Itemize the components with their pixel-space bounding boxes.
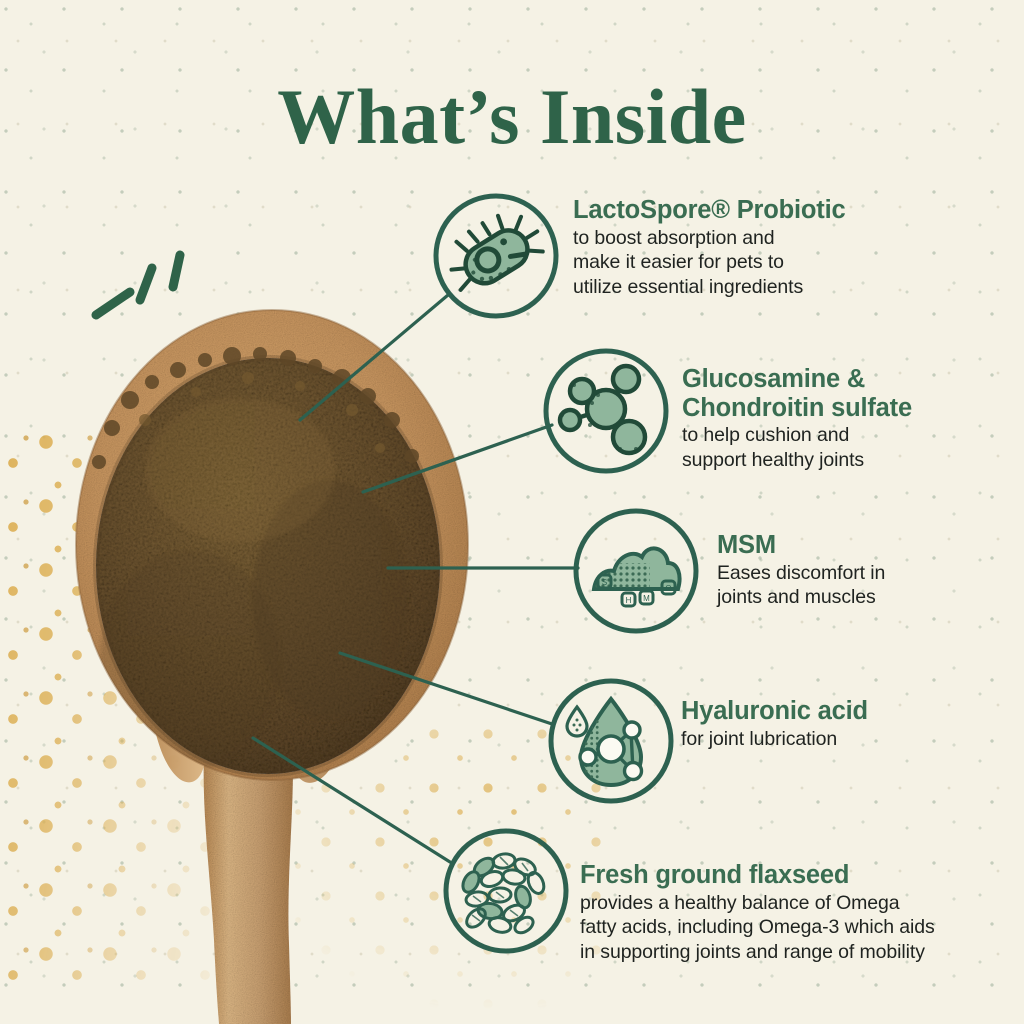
text-line: provides a healthy balance of Omega <box>580 891 980 916</box>
callout-flaxseed: Fresh ground flaxseed provides a healthy… <box>580 861 980 964</box>
text-line: to help cushion and <box>682 423 982 448</box>
svg-text:M: M <box>643 594 650 603</box>
text-line: in supporting joints and range of mobili… <box>580 940 980 965</box>
callout-flaxseed-title: Fresh ground flaxseed <box>580 861 980 890</box>
page-title: What’s Inside <box>0 72 1024 162</box>
flaxseed-cluster-icon <box>440 825 572 957</box>
molecule-icon <box>540 345 672 477</box>
connector-flaxseed <box>253 738 450 862</box>
callout-hyaluronic-acid-body: for joint lubrication <box>681 727 981 752</box>
text-line: Chondroitin sulfate <box>682 394 982 423</box>
callout-hyaluronic-acid: Hyaluronic acid for joint lubrication <box>681 697 981 751</box>
callout-lactospore-title: LactoSpore® Probiotic <box>573 196 903 225</box>
text-line: make it easier for pets to <box>573 250 903 275</box>
text-line: Glucosamine & <box>682 365 982 394</box>
callout-msm-body: Eases discomfort in joints and muscles <box>717 561 1007 610</box>
text-line: fatty acids, including Omega-3 which aid… <box>580 915 980 940</box>
callout-lactospore-body: to boost absorption and make it easier f… <box>573 226 903 300</box>
text-line: to boost absorption and <box>573 226 903 251</box>
text-line: support healthy joints <box>682 448 982 473</box>
svg-text:S: S <box>602 578 607 587</box>
svg-text:O: O <box>665 584 671 593</box>
bacteria-icon <box>430 190 562 322</box>
connector-lactospore <box>300 295 448 420</box>
text-line: utilize essential ingredients <box>573 275 903 300</box>
text-line: joints and muscles <box>717 585 1007 610</box>
callout-lactospore: LactoSpore® Probiotic to boost absorptio… <box>573 196 903 299</box>
callout-msm: MSM Eases discomfort in joints and muscl… <box>717 531 1007 610</box>
text-line: for joint lubrication <box>681 727 981 752</box>
connector-hyaluronic <box>340 653 552 724</box>
callout-glucosamine-chondroitin-body: to help cushion and support healthy join… <box>682 423 982 472</box>
callout-glucosamine-chondroitin-title: Glucosamine & Chondroitin sulfate <box>682 365 982 422</box>
callout-glucosamine-chondroitin: Glucosamine & Chondroitin sulfate to hel… <box>682 365 982 472</box>
svg-text:H: H <box>626 596 632 605</box>
powder-mound-icon: S H M O <box>570 505 702 637</box>
callout-hyaluronic-acid-title: Hyaluronic acid <box>681 697 981 726</box>
callout-msm-title: MSM <box>717 531 1007 560</box>
connector-glucosamine <box>363 425 552 492</box>
water-droplet-molecule-icon <box>545 675 677 807</box>
text-line: Eases discomfort in <box>717 561 1007 586</box>
infographic-canvas: S H M O <box>0 0 1024 1024</box>
callout-flaxseed-body: provides a healthy balance of Omega fatt… <box>580 891 980 965</box>
